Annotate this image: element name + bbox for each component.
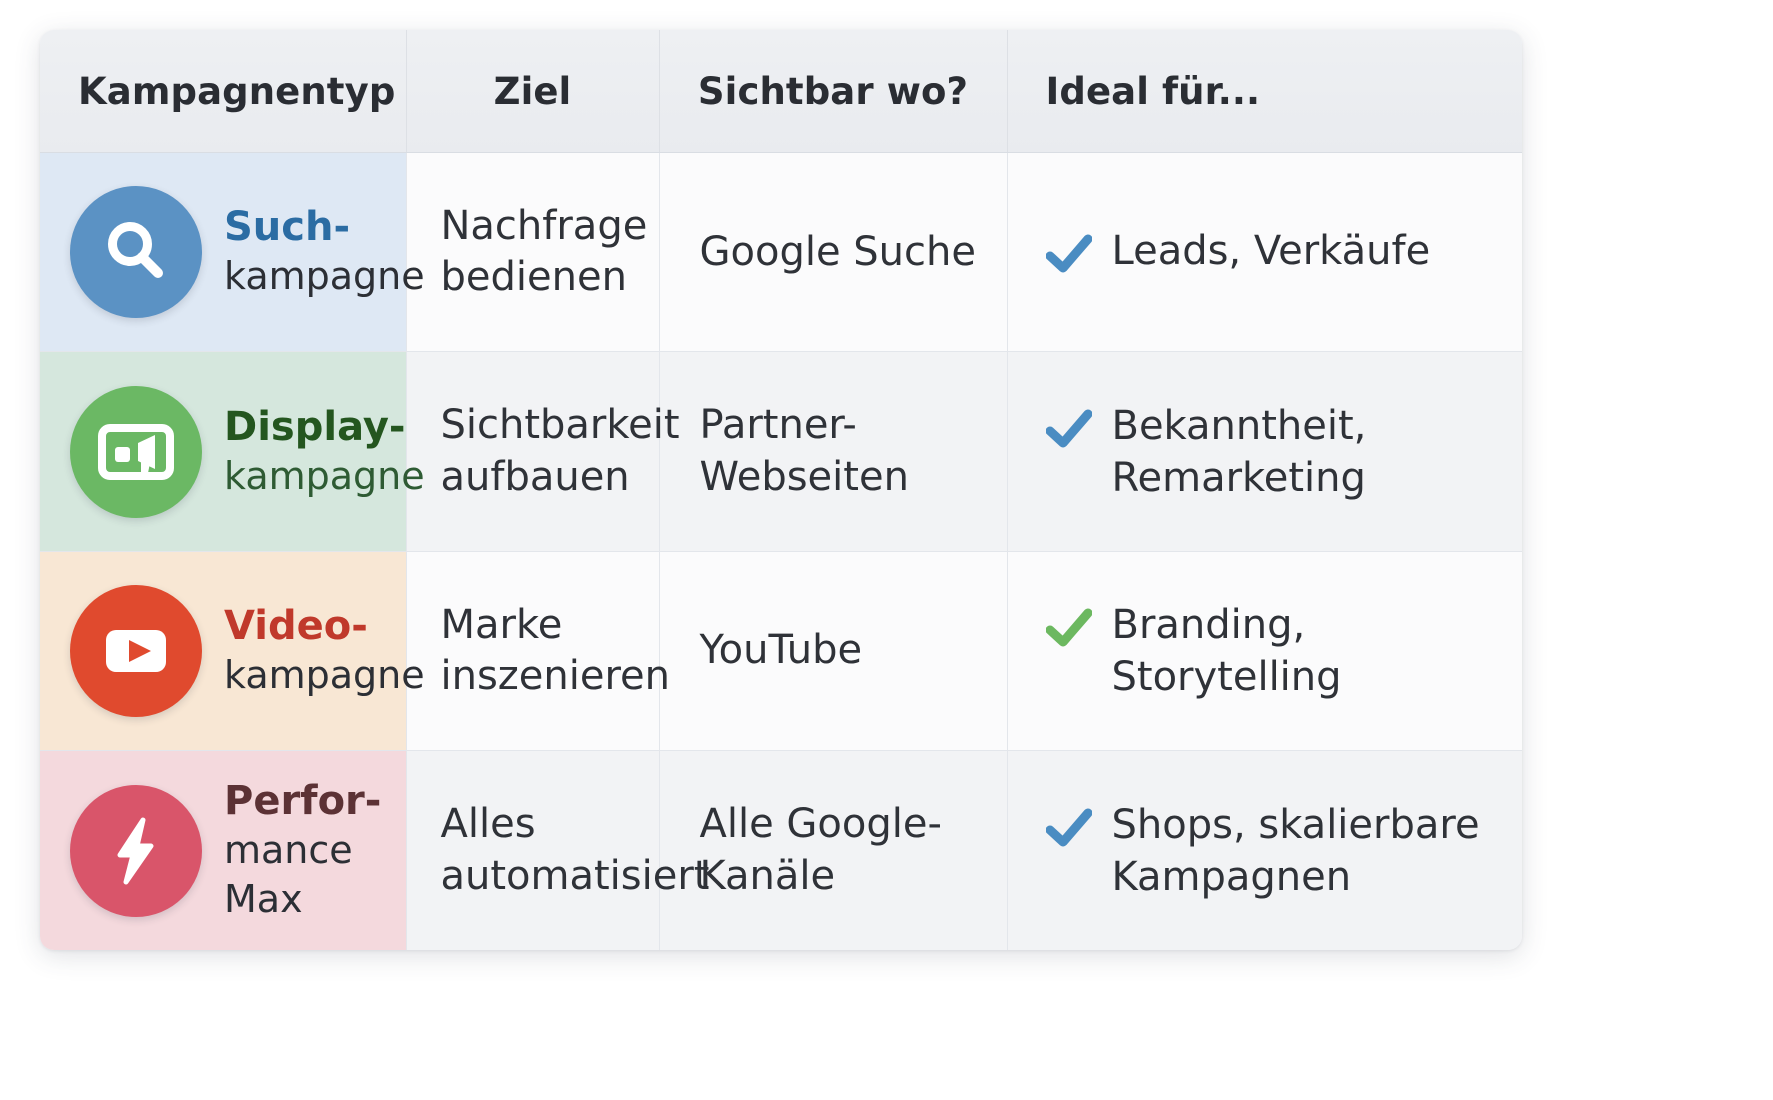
cell-goal: Sichtbarkeit aufbauen <box>406 352 659 551</box>
visibility-line-2: Webseiten <box>700 454 909 500</box>
ideal-line-2: Kampagnen <box>1112 854 1352 900</box>
campaign-type-rest: kampagne <box>224 454 425 498</box>
table-row: Perfor- mance Max Alles automatisiert <box>40 751 1522 950</box>
cell-visibility: Google Suche <box>659 153 1007 352</box>
cell-goal: Alles automatisiert <box>406 751 659 950</box>
video-play-icon <box>70 585 202 717</box>
ideal-for-text: Shops, skalierbare Kampagnen <box>1112 799 1480 903</box>
visibility-line-1: Google Suche <box>700 229 976 275</box>
campaign-type-strong: Video- <box>224 603 368 649</box>
table-header: Kampagnentyp Ziel Sichtbar wo? Ideal für… <box>40 30 1522 153</box>
header-row: Kampagnentyp Ziel Sichtbar wo? Ideal für… <box>40 30 1522 153</box>
column-header-ziel: Ziel <box>406 30 659 153</box>
ideal-line-1: Shops, skalierbare <box>1112 802 1480 848</box>
campaign-type-rest: kampagne <box>224 254 425 298</box>
search-icon <box>70 186 202 318</box>
cell-ideal-for: Branding, Storytelling <box>1007 551 1522 750</box>
cell-visibility: Partner- Webseiten <box>659 352 1007 551</box>
campaign-type-label: Video- kampagne <box>224 602 425 700</box>
column-header-kampagnentyp: Kampagnentyp <box>40 30 406 153</box>
ideal-line-1: Bekanntheit, <box>1112 403 1367 449</box>
cell-goal: Marke inszenieren <box>406 551 659 750</box>
campaign-type-rest: mance Max <box>224 828 353 921</box>
check-icon <box>1046 409 1092 455</box>
cell-ideal-for: Shops, skalierbare Kampagnen <box>1007 751 1522 950</box>
column-header-ideal-fuer: Ideal für... <box>1007 30 1522 153</box>
campaign-type-label: Display- kampagne <box>224 403 425 501</box>
cell-campaign-type: Video- kampagne <box>40 551 406 750</box>
goal-line-2: aufbauen <box>441 454 630 500</box>
ideal-for-text: Bekanntheit, Remarketing <box>1112 400 1367 504</box>
campaign-type-label: Perfor- mance Max <box>224 777 406 923</box>
table-body: Such- kampagne Nachfrage bedienen <box>40 153 1522 951</box>
cell-campaign-type: Perfor- mance Max <box>40 751 406 950</box>
cell-ideal-for: Bekanntheit, Remarketing <box>1007 352 1522 551</box>
ideal-line-1: Leads, Verkäufe <box>1112 228 1431 274</box>
page-canvas: Kampagnentyp Ziel Sichtbar wo? Ideal für… <box>0 0 1773 1100</box>
cell-ideal-for: Leads, Verkäufe <box>1007 153 1522 352</box>
campaign-type-strong: Perfor- <box>224 778 381 824</box>
column-header-sichtbar-wo: Sichtbar wo? <box>659 30 1007 153</box>
goal-line-2: bedienen <box>441 254 627 300</box>
lightning-bolt-icon <box>70 785 202 917</box>
comparison-table: Kampagnentyp Ziel Sichtbar wo? Ideal für… <box>40 30 1522 950</box>
table-row: Such- kampagne Nachfrage bedienen <box>40 153 1522 352</box>
cell-goal: Nachfrage bedienen <box>406 153 659 352</box>
ideal-line-2: Storytelling <box>1112 654 1342 700</box>
cell-visibility: Alle Google- Kanäle <box>659 751 1007 950</box>
check-icon <box>1046 808 1092 854</box>
display-megaphone-icon <box>70 386 202 518</box>
check-icon <box>1046 608 1092 654</box>
visibility-line-1: YouTube <box>700 627 863 673</box>
goal-line-1: Nachfrage <box>441 203 648 249</box>
table-row: Display- kampagne Sichtbarkeit aufbauen <box>40 352 1522 551</box>
campaign-comparison-table: Kampagnentyp Ziel Sichtbar wo? Ideal für… <box>40 30 1522 950</box>
visibility-line-2: Kanäle <box>700 853 836 899</box>
cell-campaign-type: Display- kampagne <box>40 352 406 551</box>
check-icon <box>1046 234 1092 280</box>
ideal-for-text: Branding, Storytelling <box>1112 599 1342 703</box>
table-row: Video- kampagne Marke inszenieren <box>40 551 1522 750</box>
goal-line-1: Marke <box>441 602 563 648</box>
campaign-type-label: Such- kampagne <box>224 203 425 301</box>
cell-campaign-type: Such- kampagne <box>40 153 406 352</box>
visibility-line-1: Alle Google- <box>700 801 942 847</box>
campaign-type-strong: Display- <box>224 404 406 450</box>
goal-line-2: inszenieren <box>441 653 671 699</box>
campaign-type-strong: Such- <box>224 204 350 250</box>
goal-line-1: Alles <box>441 801 536 847</box>
visibility-line-1: Partner- <box>700 402 857 448</box>
ideal-for-text: Leads, Verkäufe <box>1112 225 1431 277</box>
goal-line-2: automatisiert <box>441 853 710 899</box>
goal-line-1: Sichtbarkeit <box>441 402 680 448</box>
ideal-line-1: Branding, <box>1112 602 1306 648</box>
cell-visibility: YouTube <box>659 551 1007 750</box>
ideal-line-2: Remarketing <box>1112 455 1366 501</box>
campaign-type-rest: kampagne <box>224 653 425 697</box>
